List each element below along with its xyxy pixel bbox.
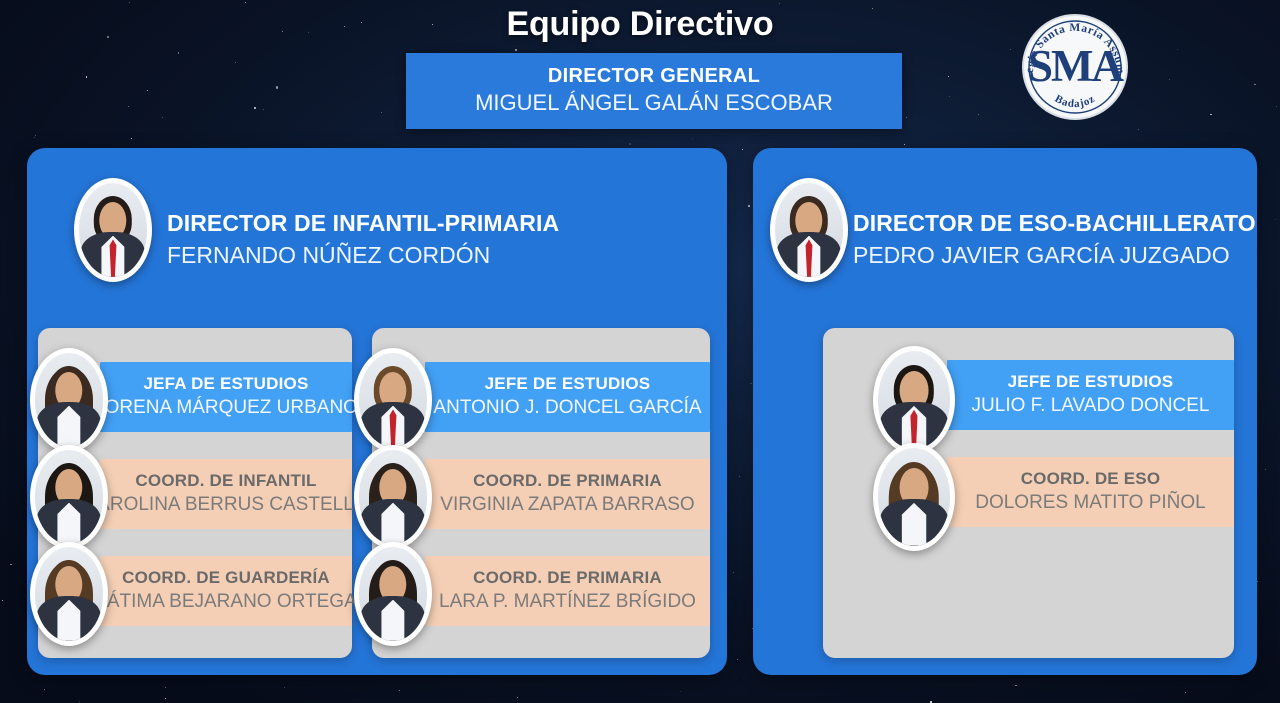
staff-bar: JEFE DE ESTUDIOSANTONIO J. DONCEL GARCÍA <box>425 362 710 432</box>
staff-role: COORD. DE ESO <box>1021 468 1161 490</box>
card-eso: JEFE DE ESTUDIOSJULIO F. LAVADO DONCELCO… <box>823 328 1234 658</box>
staff-name: LARA P. MARTÍNEZ BRÍGIDO <box>439 589 696 615</box>
staff-row: JEFE DE ESTUDIOSANTONIO J. DONCEL GARCÍA <box>372 348 710 436</box>
staff-row: JEFE DE ESTUDIOSJULIO F. LAVADO DONCEL <box>823 346 1234 434</box>
staff-role: JEFE DE ESTUDIOS <box>485 373 651 395</box>
portrait-fernando-nunez <box>74 178 152 282</box>
director-row: DIRECTOR DE ESO-BACHILLERATOPEDRO JAVIER… <box>753 170 1257 300</box>
staff-name: LORENA MÁRQUEZ URBANO <box>94 395 358 421</box>
staff-role: COORD. DE INFANTIL <box>135 470 316 492</box>
staff-role: COORD. DE PRIMARIA <box>473 470 662 492</box>
staff-row: COORD. DE PRIMARIALARA P. MARTÍNEZ BRÍGI… <box>372 542 710 630</box>
portrait-dolores-matito <box>873 443 955 551</box>
staff-name: CAROLINA BERRUS CASTELLÓ <box>83 492 368 518</box>
portrait-fatima-bejarano <box>30 542 108 646</box>
director-name: PEDRO JAVIER GARCÍA JUZGADO <box>853 239 1256 271</box>
staff-row: JEFA DE ESTUDIOSLORENA MÁRQUEZ URBANO <box>38 348 352 436</box>
staff-bar: COORD. DE GUARDERÍAFÁTIMA BEJARANO ORTEG… <box>100 556 352 626</box>
portrait-virginia-zapata <box>354 445 432 549</box>
director-text-block: DIRECTOR DE INFANTIL-PRIMARIAFERNANDO NÚ… <box>167 208 559 271</box>
svg-text:SMA: SMA <box>1028 41 1125 91</box>
staff-bar: JEFA DE ESTUDIOSLORENA MÁRQUEZ URBANO <box>100 362 352 432</box>
portrait-antonio-doncel <box>354 348 432 452</box>
staff-bar: JEFE DE ESTUDIOSJULIO F. LAVADO DONCEL <box>947 360 1234 430</box>
director-general-role: DIRECTOR GENERAL <box>548 64 760 89</box>
portrait-julio-lavado <box>873 346 955 454</box>
staff-bar: COORD. DE PRIMARIALARA P. MARTÍNEZ BRÍGI… <box>425 556 710 626</box>
staff-role: COORD. DE GUARDERÍA <box>122 567 330 589</box>
portrait-lara-martinez <box>354 542 432 646</box>
portrait-pedro-javier-garcia <box>770 178 848 282</box>
director-role: DIRECTOR DE ESO-BACHILLERATO <box>853 208 1256 239</box>
director-role: DIRECTOR DE INFANTIL-PRIMARIA <box>167 208 559 239</box>
staff-bar: COORD. DE PRIMARIAVIRGINIA ZAPATA BARRAS… <box>425 459 710 529</box>
staff-name: FÁTIMA BEJARANO ORTEGA <box>95 589 356 615</box>
staff-name: VIRGINIA ZAPATA BARRASO <box>440 492 694 518</box>
staff-role: JEFA DE ESTUDIOS <box>143 373 308 395</box>
portrait-carolina-berrus <box>30 445 108 549</box>
staff-name: JULIO F. LAVADO DONCEL <box>972 393 1210 419</box>
portrait-lorena-marquez <box>30 348 108 452</box>
staff-role: JEFE DE ESTUDIOS <box>1008 371 1174 393</box>
director-text-block: DIRECTOR DE ESO-BACHILLERATOPEDRO JAVIER… <box>853 208 1256 271</box>
staff-row: COORD. DE ESODOLORES MATITO PIÑOL <box>823 443 1234 531</box>
staff-bar: COORD. DE INFANTILCAROLINA BERRUS CASTEL… <box>100 459 352 529</box>
sma-seal-icon: Colegio Santa María Assumpta Badajoz SMA <box>1013 5 1137 129</box>
card-infantil: JEFA DE ESTUDIOSLORENA MÁRQUEZ URBANOCOO… <box>38 328 352 658</box>
staff-name: ANTONIO J. DONCEL GARCÍA <box>433 395 701 421</box>
director-name: FERNANDO NÚÑEZ CORDÓN <box>167 239 559 271</box>
staff-name: DOLORES MATITO PIÑOL <box>975 490 1206 516</box>
org-chart-stage: Equipo Directivo DIRECTOR GENERAL MIGUEL… <box>0 0 1280 703</box>
director-general-name: MIGUEL ÁNGEL GALÁN ESCOBAR <box>475 89 833 118</box>
staff-row: COORD. DE GUARDERÍAFÁTIMA BEJARANO ORTEG… <box>38 542 352 630</box>
staff-role: COORD. DE PRIMARIA <box>473 567 662 589</box>
director-general-card: DIRECTOR GENERAL MIGUEL ÁNGEL GALÁN ESCO… <box>406 53 902 129</box>
card-primaria: JEFE DE ESTUDIOSANTONIO J. DONCEL GARCÍA… <box>372 328 710 658</box>
staff-bar: COORD. DE ESODOLORES MATITO PIÑOL <box>947 457 1234 527</box>
staff-row: COORD. DE INFANTILCAROLINA BERRUS CASTEL… <box>38 445 352 533</box>
staff-row: COORD. DE PRIMARIAVIRGINIA ZAPATA BARRAS… <box>372 445 710 533</box>
school-logo-seal: Colegio Santa María Assumpta Badajoz SMA <box>1013 5 1137 129</box>
director-row: DIRECTOR DE INFANTIL-PRIMARIAFERNANDO NÚ… <box>27 170 727 300</box>
